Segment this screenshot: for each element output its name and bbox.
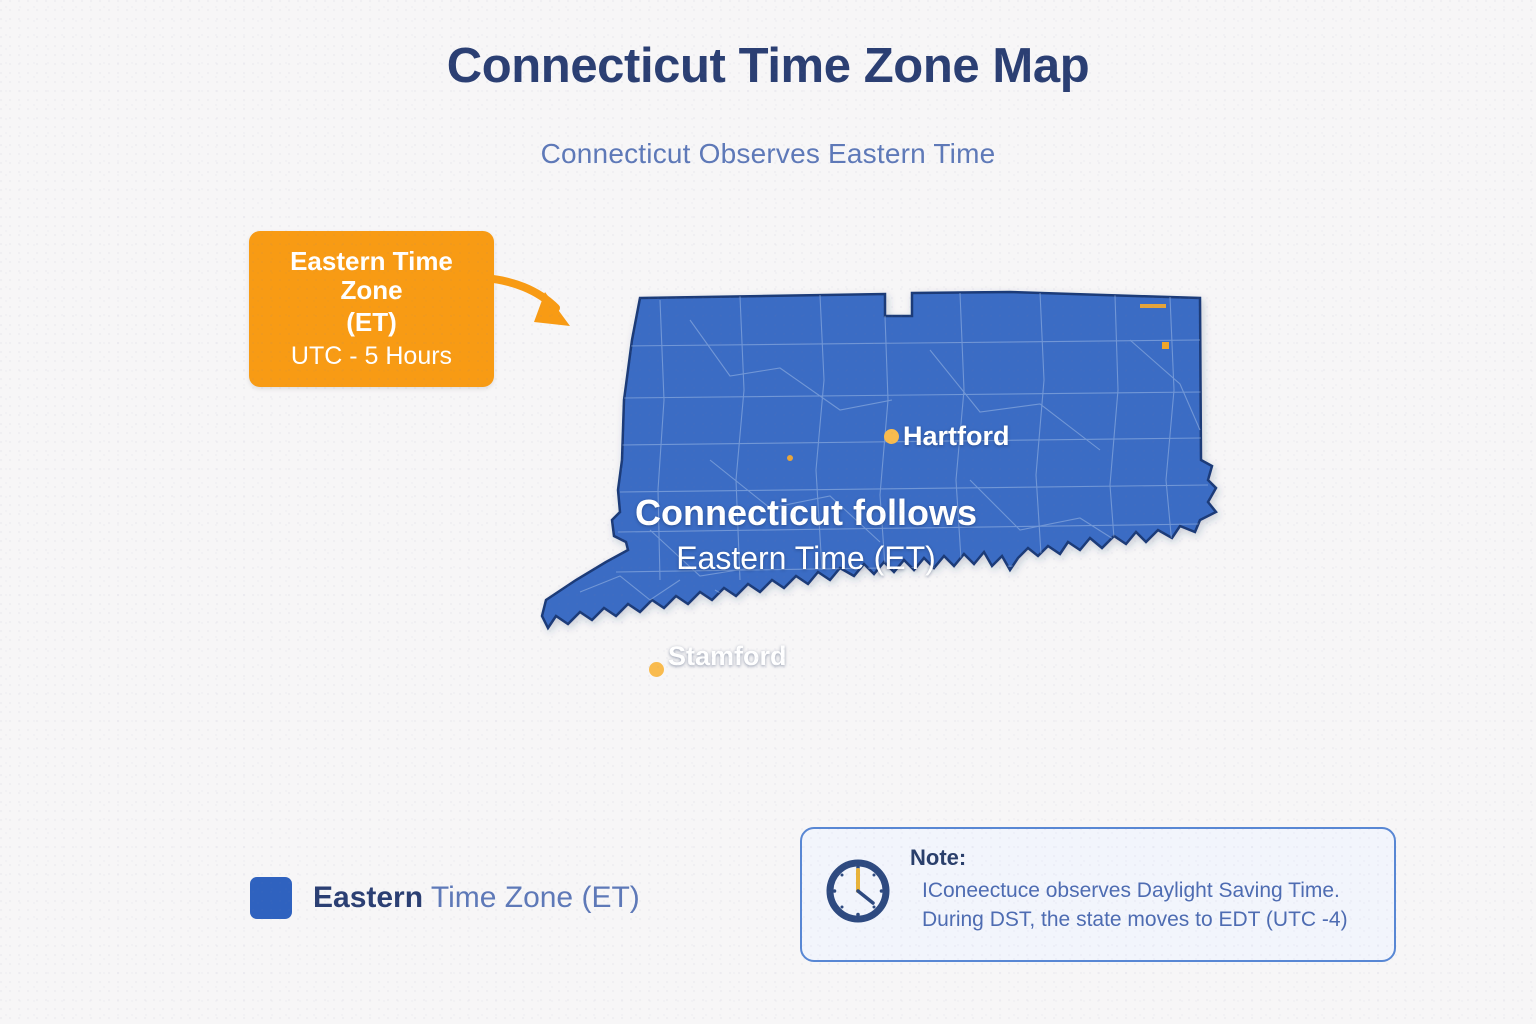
time-zone-callout: Eastern Time Zone (ET) UTC - 5 Hours	[249, 231, 494, 387]
callout-zone-name: Eastern Time Zone	[272, 247, 472, 305]
map-marker-small	[1162, 342, 1169, 349]
map-legend: Eastern Time Zone (ET)	[250, 877, 640, 919]
curved-arrow-icon	[482, 250, 592, 340]
dst-note-box: Note: IConeectuce observes Daylight Savi…	[800, 827, 1396, 962]
legend-label-rest: Time Zone (ET)	[423, 881, 640, 914]
callout-utc-offset: UTC - 5 Hours	[291, 342, 452, 371]
note-line-1: IConeectuce observes Daylight Saving Tim…	[922, 877, 1348, 906]
map-overlay-line-1: Connecticut follows	[38, 492, 1536, 534]
legend-swatch-eastern	[250, 877, 292, 919]
legend-label-bold: Eastern	[313, 881, 423, 914]
city-dot-hartford	[884, 429, 899, 444]
callout-zone-abbr: (ET)	[346, 307, 397, 338]
note-heading: Note:	[910, 845, 1348, 871]
note-text-block: Note: IConeectuce observes Daylight Savi…	[910, 845, 1348, 935]
legend-label: Eastern Time Zone (ET)	[313, 881, 640, 915]
map-marker-line	[1140, 304, 1166, 308]
clock-icon	[824, 857, 892, 925]
city-label-hartford: Hartford	[903, 421, 1010, 452]
city-dot-stamford	[649, 662, 664, 677]
page-subtitle: Connecticut Observes Eastern Time	[0, 138, 1536, 170]
page-title: Connecticut Time Zone Map	[0, 38, 1536, 94]
map-overlay-line-2: Eastern Time (ET)	[38, 540, 1536, 577]
map-marker-dot	[787, 455, 793, 461]
city-label-stamford: Stamford	[668, 641, 787, 672]
note-line-2: During DST, the state moves to EDT (UTC …	[922, 906, 1348, 935]
